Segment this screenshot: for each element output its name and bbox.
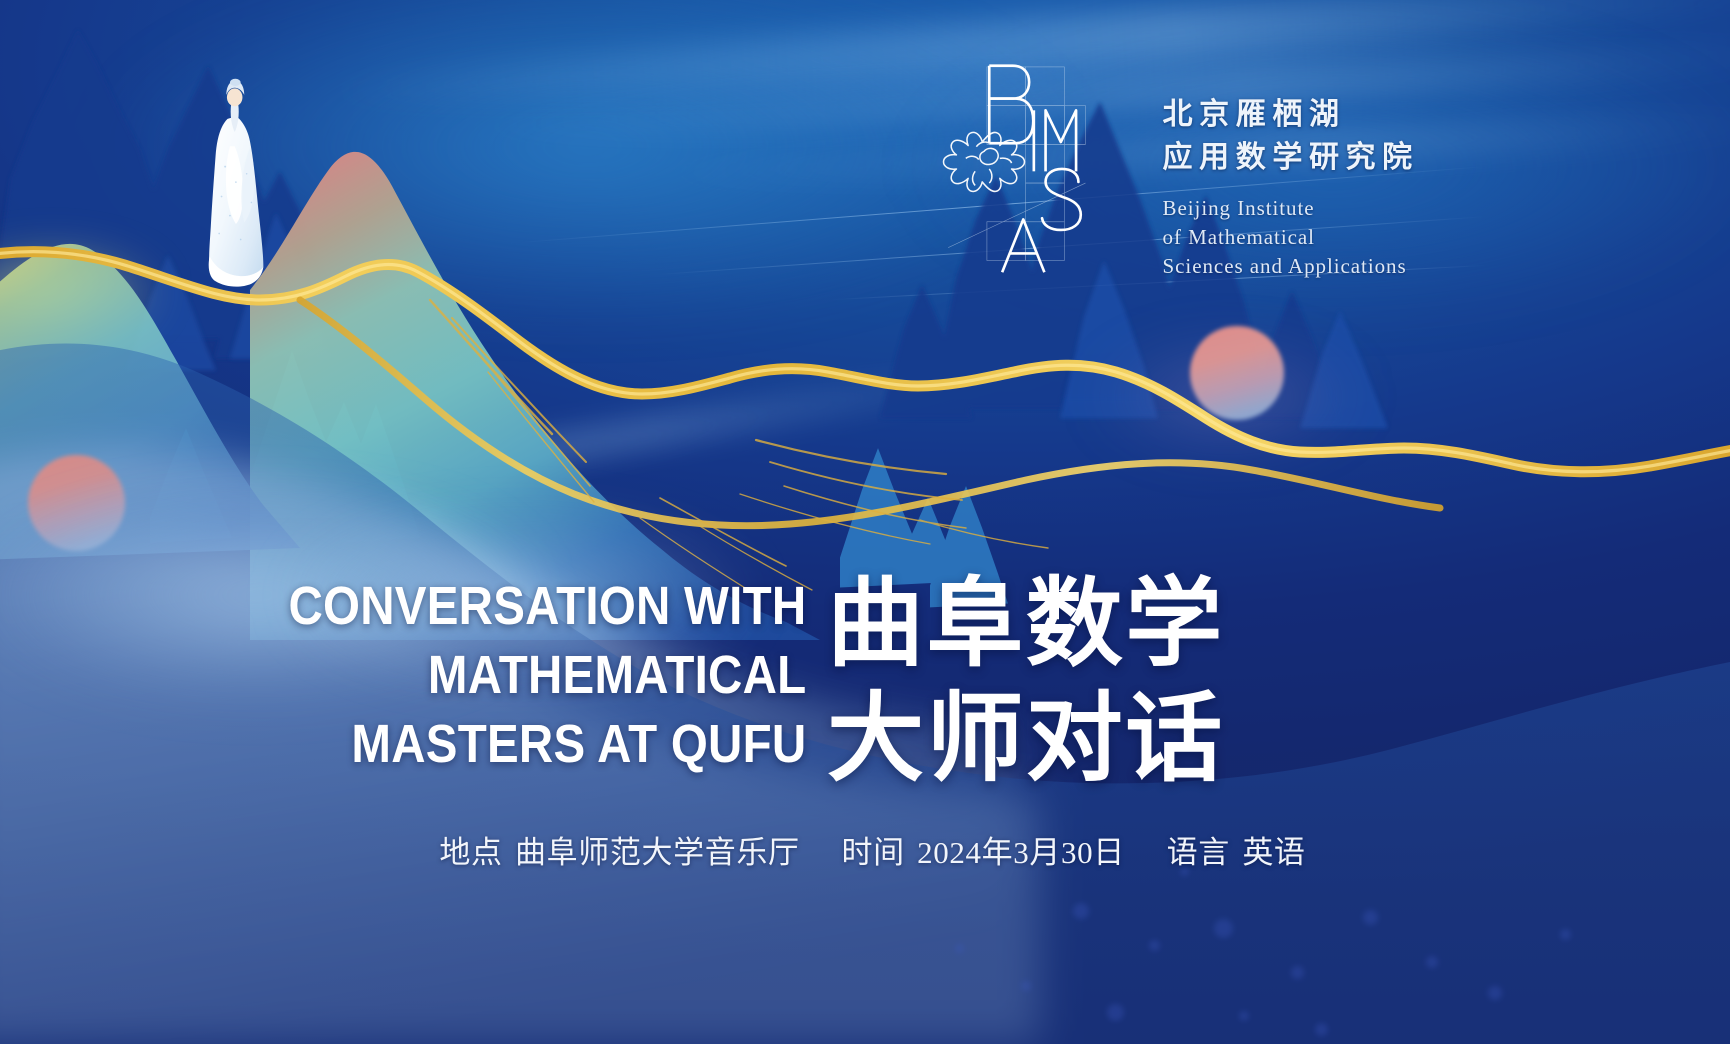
headline-en-line-2: MATHEMATICAL — [267, 641, 806, 710]
institute-name-en-line-2: of Mathematical — [1163, 223, 1407, 252]
event-poster: 北京雁栖湖 应用数学研究院 Beijing Institute of Mathe… — [0, 0, 1730, 1044]
time-label: 时间 — [841, 835, 904, 870]
headline-english: CONVERSATION WITH MATHEMATICAL MASTERS A… — [267, 572, 806, 779]
headline-en-line-3: MASTERS AT QUFU — [267, 710, 806, 779]
time-value: 2024年3月30日 — [917, 835, 1125, 870]
logo-letters-im — [1034, 111, 1076, 172]
event-details: 地点曲阜师范大学音乐厅时间2024年3月30日语言英语 — [439, 827, 1305, 872]
venue-label: 地点 — [439, 835, 502, 870]
institute-name-english: Beijing Institute of Mathematical Scienc… — [1163, 194, 1407, 281]
logo-letter-s — [1042, 169, 1081, 230]
language-label: 语言 — [1167, 835, 1230, 870]
language-value: 英语 — [1242, 835, 1305, 870]
logo-grid-lines — [949, 67, 1086, 261]
logo-letter-a — [1003, 220, 1045, 273]
institute-name-en-line-3: Sciences and Applications — [1163, 252, 1407, 281]
bokeh-dot — [1315, 1023, 1328, 1036]
bokeh-dot — [955, 944, 964, 953]
bimsa-logo-mark — [875, 54, 1162, 300]
sun-orb-right — [1190, 326, 1283, 420]
institute-name-en-line-1: Beijing Institute — [1163, 194, 1407, 223]
headline-zh-line-1: 曲阜数学 — [827, 566, 1225, 681]
bokeh-dot — [1426, 956, 1438, 968]
venue-value: 曲阜师范大学音乐厅 — [515, 835, 800, 870]
bokeh-dot — [1291, 966, 1304, 979]
logo-letter-b — [990, 66, 1034, 143]
confucius-sage-figure — [180, 77, 294, 292]
headline-chinese: 曲阜数学 大师对话 — [827, 566, 1225, 797]
institute-name-chinese: 北京雁栖湖 应用数学研究院 — [1163, 94, 1419, 179]
headline-zh-line-2: 大师对话 — [827, 681, 1225, 796]
bokeh-dot — [1488, 986, 1502, 1000]
bokeh-dot — [1073, 903, 1089, 919]
bokeh-dot — [1149, 940, 1160, 951]
headline-en-line-1: CONVERSATION WITH — [267, 572, 806, 641]
institute-name-cn-line-1: 北京雁栖湖 — [1163, 94, 1419, 137]
institute-name-cn-line-2: 应用数学研究院 — [1163, 137, 1419, 180]
bimsa-flower-icon — [944, 133, 1025, 192]
bokeh-dot — [1239, 1011, 1249, 1021]
